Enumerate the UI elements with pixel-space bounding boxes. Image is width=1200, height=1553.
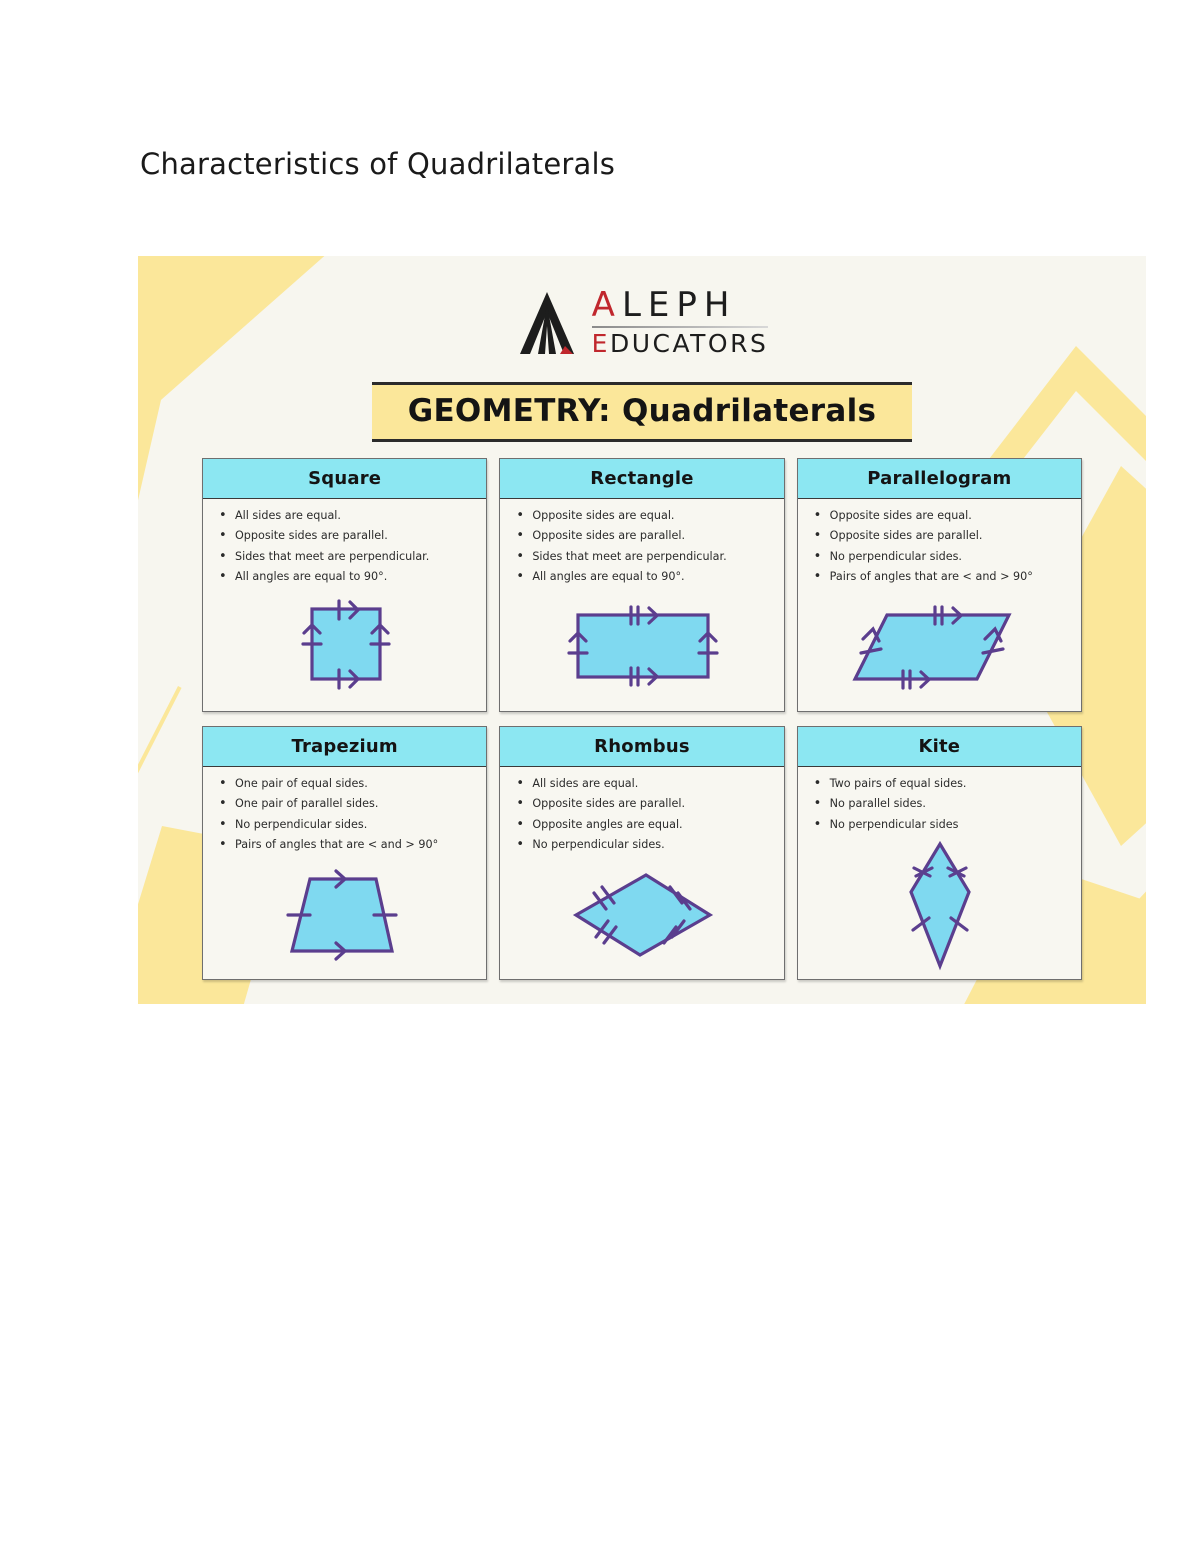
list-item: All sides are equal. [217,509,474,522]
kite-shape-diagram [885,838,995,972]
card-title-kite: Kite [918,736,960,757]
yellow-line-decoration-left [138,686,182,1004]
card-header-parallelogram: Parallelogram [798,459,1081,499]
square-shape-diagram [282,595,410,699]
bullet-list-rhombus: All sides are equal. Opposite sides are … [514,777,771,859]
rectangle-shape-diagram [554,597,732,697]
card-title-rhombus: Rhombus [594,736,690,757]
card-body-kite: Two pairs of equal sides. No parallel si… [798,767,1081,980]
list-item: Two pairs of equal sides. [812,777,1069,790]
trapezium-shape-diagram [266,865,426,965]
logo-secondary-text: EDUCATORS [592,329,769,358]
card-kite: Kite Two pairs of equal sides. No parall… [797,726,1082,980]
card-body-square: All sides are equal. Opposite sides are … [203,499,486,711]
shape-area-square [217,591,474,707]
list-item: No parallel sides. [812,797,1069,810]
aleph-chevron-mark-icon [516,290,578,356]
list-item: Pairs of angles that are < and > 90° [812,570,1069,583]
bullet-list-trapezium: One pair of equal sides. One pair of par… [217,777,474,859]
list-item: No perpendicular sides. [812,550,1069,563]
document-title: Characteristics of Quadrilaterals [140,147,615,181]
logo-primary-first-letter: A [592,285,622,325]
logo-primary-rest: LEPH [622,285,737,325]
card-title-trapezium: Trapezium [291,736,397,757]
card-header-rhombus: Rhombus [500,727,783,767]
list-item: Pairs of angles that are < and > 90° [217,838,474,851]
logo-divider [592,326,769,328]
list-item: Opposite angles are equal. [514,818,771,831]
bullet-list-rectangle: Opposite sides are equal. Opposite sides… [514,509,771,591]
logo-primary-text: ALEPH [592,288,769,324]
brand-logo: ALEPH EDUCATORS [138,288,1146,358]
list-item: Opposite sides are parallel. [812,529,1069,542]
list-item: Opposite sides are parallel. [514,529,771,542]
list-item: All sides are equal. [514,777,771,790]
logo-secondary-first-letter: E [592,329,610,358]
shape-area-rectangle [514,591,771,707]
card-title-rectangle: Rectangle [590,468,693,489]
card-parallelogram: Parallelogram Opposite sides are equal. … [797,458,1082,712]
list-item: Opposite sides are parallel. [514,797,771,810]
list-item: All angles are equal to 90°. [514,570,771,583]
card-header-trapezium: Trapezium [203,727,486,767]
list-item: One pair of parallel sides. [217,797,474,810]
shape-area-trapezium [217,859,474,975]
bullet-list-parallelogram: Opposite sides are equal. Opposite sides… [812,509,1069,591]
card-body-trapezium: One pair of equal sides. One pair of par… [203,767,486,979]
list-item: All angles are equal to 90°. [217,570,474,583]
card-title-square: Square [308,468,381,489]
shape-area-parallelogram [812,591,1069,707]
card-header-square: Square [203,459,486,499]
list-item: Opposite sides are equal. [514,509,771,522]
list-item: Sides that meet are perpendicular. [514,550,771,563]
list-item: One pair of equal sides. [217,777,474,790]
card-square: Square All sides are equal. Opposite sid… [202,458,487,712]
list-item: No perpendicular sides. [217,818,474,831]
list-item: Sides that meet are perpendicular. [217,550,474,563]
list-item: Opposite sides are parallel. [217,529,474,542]
banner-title: GEOMETRY: Quadrilaterals [408,393,877,429]
shape-area-rhombus [514,859,771,975]
card-rhombus: Rhombus All sides are equal. Opposite si… [499,726,784,980]
parallelogram-shape-diagram [847,597,1033,697]
shape-area-kite [812,838,1069,976]
card-rectangle: Rectangle Opposite sides are equal. Oppo… [499,458,784,712]
card-header-rectangle: Rectangle [500,459,783,499]
list-item: No perpendicular sides. [514,838,771,851]
list-item: No perpendicular sides [812,818,1069,831]
card-header-kite: Kite [798,727,1081,767]
card-body-rectangle: Opposite sides are equal. Opposite sides… [500,499,783,711]
quadrilateral-cards-grid: Square All sides are equal. Opposite sid… [202,458,1082,980]
bullet-list-kite: Two pairs of equal sides. No parallel si… [812,777,1069,838]
quadrilaterals-poster: ALEPH EDUCATORS GEOMETRY: Quadrilaterals… [138,256,1146,1004]
banner-box: GEOMETRY: Quadrilaterals [372,382,912,442]
list-item: Opposite sides are equal. [812,509,1069,522]
logo-secondary-rest: DUCATORS [610,329,768,358]
card-body-parallelogram: Opposite sides are equal. Opposite sides… [798,499,1081,711]
card-trapezium: Trapezium One pair of equal sides. One p… [202,726,487,980]
card-body-rhombus: All sides are equal. Opposite sides are … [500,767,783,979]
bullet-list-square: All sides are equal. Opposite sides are … [217,509,474,591]
rhombus-shape-diagram [558,863,728,967]
poster-banner: GEOMETRY: Quadrilaterals [138,382,1146,442]
card-title-parallelogram: Parallelogram [867,468,1011,489]
